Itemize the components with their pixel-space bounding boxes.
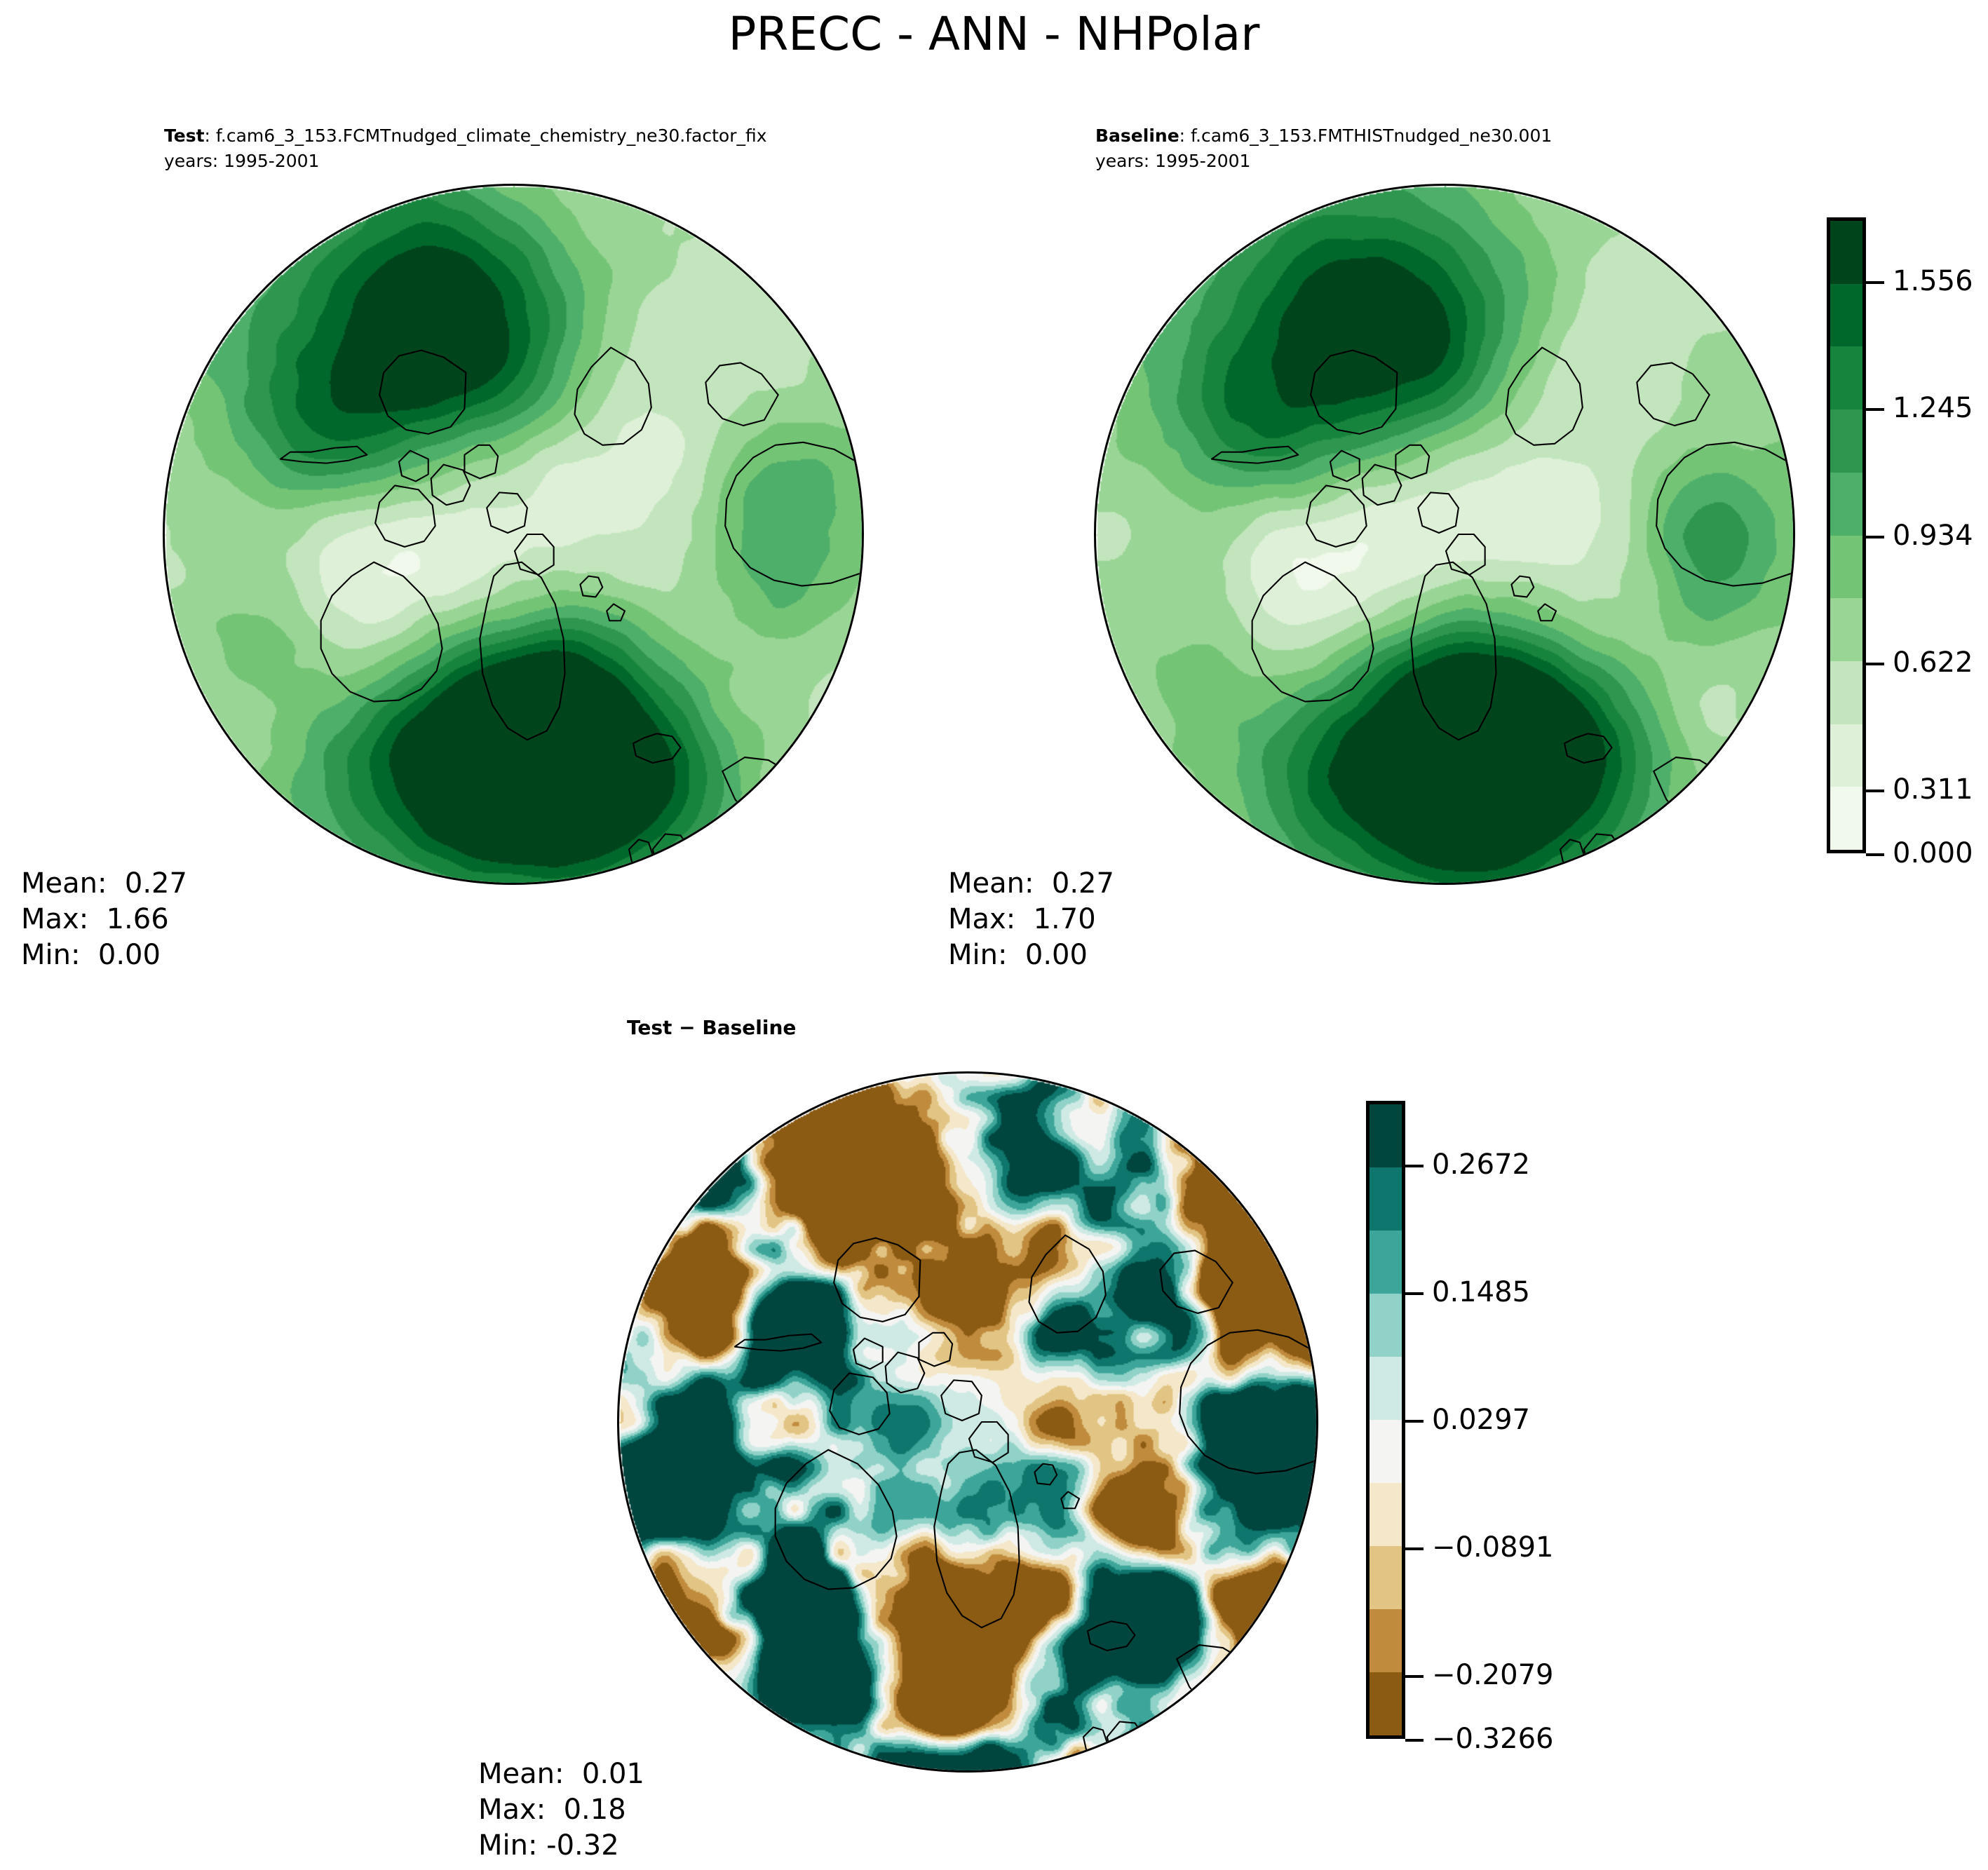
- colorbar-band-3: [1830, 409, 1862, 473]
- figure-canvas: PRECC - ANN - NHPolar Test: f.cam6_3_153…: [0, 0, 1988, 1870]
- greens-colorbar-bar: [1827, 217, 1866, 853]
- page-title: PRECC - ANN - NHPolar: [0, 7, 1988, 61]
- baseline-stats: Mean: 0.27 Max: 1.70 Min: 0.00: [948, 866, 1114, 974]
- colorbar-tick-label-1: 0.1485: [1432, 1276, 1530, 1308]
- colorbar-tick-2: [1405, 1420, 1424, 1423]
- colorbar-tick-1: [1866, 408, 1884, 411]
- colorbar-band-0: [1370, 1104, 1402, 1167]
- colorbar-band-2: [1830, 346, 1862, 409]
- baseline-separator: :: [1179, 126, 1191, 146]
- colorbar-band-1: [1830, 284, 1862, 347]
- difference-mean-value: Mean: 0.01: [478, 1758, 644, 1790]
- difference-map-field: [619, 1073, 1316, 1770]
- test-max-value: Max: 1.66: [21, 903, 169, 935]
- colorbar-band-2: [1370, 1231, 1402, 1294]
- colorbar-tick-2: [1866, 536, 1884, 538]
- difference-max-value: Max: 0.18: [478, 1794, 626, 1826]
- colorbar-tick-label-2: 0.0297: [1432, 1404, 1530, 1436]
- baseline-years-label: years: 1995-2001: [1095, 149, 1552, 174]
- colorbar-band-8: [1370, 1609, 1402, 1672]
- baseline-max-value: Max: 1.70: [948, 903, 1096, 935]
- colorbar-tick-label-1: 1.245: [1893, 392, 1973, 424]
- colorbar-tick-1: [1405, 1292, 1424, 1295]
- colorbar-band-4: [1370, 1357, 1402, 1420]
- baseline-min-value: Min: 0.00: [948, 939, 1088, 971]
- test-case-name: f.cam6_3_153.FCMTnudged_climate_chemistr…: [216, 126, 767, 146]
- colorbar-band-6: [1370, 1483, 1402, 1546]
- colorbar-band-5: [1370, 1420, 1402, 1483]
- colorbar-tick-3: [1866, 663, 1884, 665]
- colorbar-band-0: [1830, 221, 1862, 284]
- colorbar-tick-label-4: 0.311: [1893, 773, 1973, 806]
- colorbar-band-8: [1830, 724, 1862, 787]
- test-role-label: Test: [164, 126, 205, 146]
- colorbar-tick-5: [1405, 1739, 1424, 1742]
- difference-panel-header: Test − Baseline: [627, 1016, 796, 1039]
- colorbar-tick-0: [1405, 1165, 1424, 1167]
- difference-map-panel[interactable]: [617, 1071, 1318, 1773]
- baseline-panel-header: Baseline: f.cam6_3_153.FMTHISTnudged_ne3…: [1095, 123, 1552, 173]
- test-separator: :: [205, 126, 216, 146]
- colorbar-tick-label-2: 0.934: [1893, 520, 1973, 552]
- colorbar-band-1: [1370, 1167, 1402, 1231]
- colorbar-tick-3: [1405, 1547, 1424, 1550]
- baseline-case-name: f.cam6_3_153.FMTHISTnudged_ne30.001: [1191, 126, 1552, 146]
- test-mean-value: Mean: 0.27: [21, 867, 187, 900]
- colorbar-tick-0: [1866, 281, 1884, 284]
- test-years-label: years: 1995-2001: [164, 149, 767, 174]
- colorbar-tick-label-5: −0.3266: [1432, 1723, 1553, 1755]
- baseline-mean-value: Mean: 0.27: [948, 867, 1114, 900]
- test-map-panel[interactable]: [163, 184, 864, 885]
- colorbar-band-6: [1830, 598, 1862, 661]
- colorbar-tick-5: [1866, 853, 1884, 856]
- colorbar-tick-label-4: −0.2079: [1432, 1659, 1553, 1691]
- colorbar-tick-4: [1405, 1675, 1424, 1678]
- colorbar-band-3: [1370, 1294, 1402, 1357]
- colorbar-tick-label-3: −0.0891: [1432, 1531, 1553, 1564]
- colorbar-band-7: [1370, 1546, 1402, 1609]
- test-min-value: Min: 0.00: [21, 939, 161, 971]
- colorbar-tick-label-0: 1.556: [1893, 265, 1973, 297]
- difference-stats: Mean: 0.01 Max: 0.18 Min: -0.32: [478, 1756, 644, 1864]
- baseline-map-panel[interactable]: [1094, 184, 1795, 885]
- test-stats: Mean: 0.27 Max: 1.66 Min: 0.00: [21, 866, 187, 974]
- colorbar-tick-label-3: 0.622: [1893, 646, 1973, 679]
- brbg-colorbar-bar: [1366, 1101, 1405, 1739]
- colorbar-tick-4: [1866, 790, 1884, 792]
- colorbar-band-7: [1830, 661, 1862, 724]
- test-map-field: [165, 186, 862, 883]
- difference-min-value: Min: -0.32: [478, 1829, 619, 1862]
- test-panel-header: Test: f.cam6_3_153.FCMTnudged_climate_ch…: [164, 123, 767, 173]
- colorbar-band-4: [1830, 473, 1862, 536]
- colorbar-band-5: [1830, 536, 1862, 599]
- colorbar-band-9: [1370, 1672, 1402, 1735]
- colorbar-band-9: [1830, 787, 1862, 850]
- baseline-map-field: [1096, 186, 1793, 883]
- colorbar-tick-label-5: 0.000: [1893, 837, 1973, 869]
- baseline-role-label: Baseline: [1095, 126, 1179, 146]
- colorbar-tick-label-0: 0.2672: [1432, 1149, 1530, 1181]
